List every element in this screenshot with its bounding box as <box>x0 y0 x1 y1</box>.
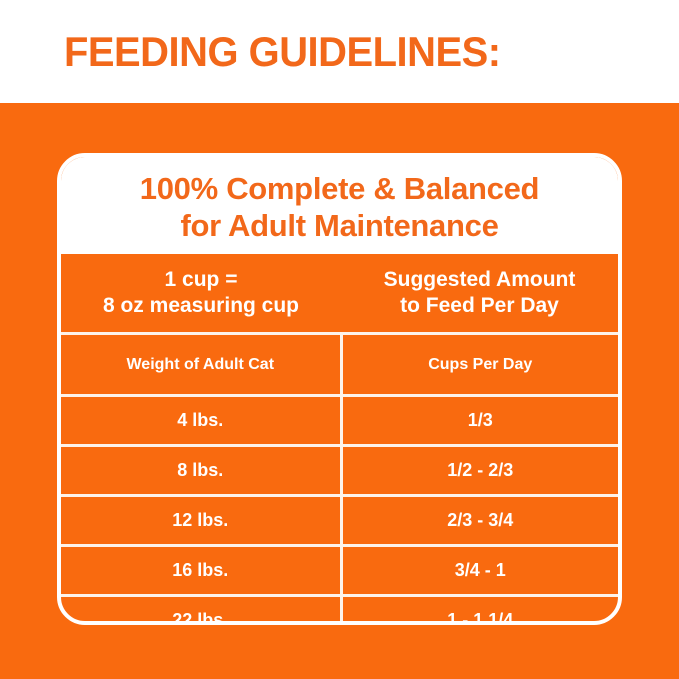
page-title: FEEDING GUIDELINES: <box>64 31 501 73</box>
table-row-cup-definition: 1 cup = 8 oz measuring cup Suggested Amo… <box>61 254 618 334</box>
cup-definition-line-2: 8 oz measuring cup <box>61 293 341 319</box>
feeding-table: 1 cup = 8 oz measuring cup Suggested Amo… <box>61 254 618 625</box>
suggested-amount-line-1: Suggested Amount <box>341 267 618 293</box>
cell-weight: 12 lbs. <box>61 496 341 546</box>
cell-cups: 1 - 1 1/4 <box>341 596 618 626</box>
table-header-row: Weight of Adult Cat Cups Per Day <box>61 334 618 396</box>
cell-weight: 22 lbs. <box>61 596 341 626</box>
cell-cups: 1/3 <box>341 396 618 446</box>
suggested-amount-line-2: to Feed Per Day <box>341 293 618 319</box>
column-header-cups: Cups Per Day <box>341 334 618 396</box>
card-heading-line-2: for Adult Maintenance <box>180 208 498 245</box>
cup-definition-cell: 1 cup = 8 oz measuring cup <box>61 254 341 334</box>
suggested-amount-cell: Suggested Amount to Feed Per Day <box>341 254 618 334</box>
card-heading: 100% Complete & Balanced for Adult Maint… <box>61 157 618 254</box>
cup-definition-line-1: 1 cup = <box>61 267 341 293</box>
cell-weight: 4 lbs. <box>61 396 341 446</box>
column-header-weight: Weight of Adult Cat <box>61 334 341 396</box>
cell-cups: 2/3 - 3/4 <box>341 496 618 546</box>
cell-cups: 1/2 - 2/3 <box>341 446 618 496</box>
feeding-guidelines-page: FEEDING GUIDELINES: 100% Complete & Bala… <box>0 0 679 679</box>
feeding-guidelines-card: 100% Complete & Balanced for Adult Maint… <box>57 153 622 625</box>
table-row: 4 lbs. 1/3 <box>61 396 618 446</box>
table-row: 12 lbs. 2/3 - 3/4 <box>61 496 618 546</box>
cell-weight: 8 lbs. <box>61 446 341 496</box>
table-row: 22 lbs. 1 - 1 1/4 <box>61 596 618 626</box>
cell-cups: 3/4 - 1 <box>341 546 618 596</box>
cell-weight: 16 lbs. <box>61 546 341 596</box>
table-row: 16 lbs. 3/4 - 1 <box>61 546 618 596</box>
header-band: FEEDING GUIDELINES: <box>0 0 679 103</box>
table-row: 8 lbs. 1/2 - 2/3 <box>61 446 618 496</box>
card-heading-line-1: 100% Complete & Balanced <box>140 171 539 208</box>
